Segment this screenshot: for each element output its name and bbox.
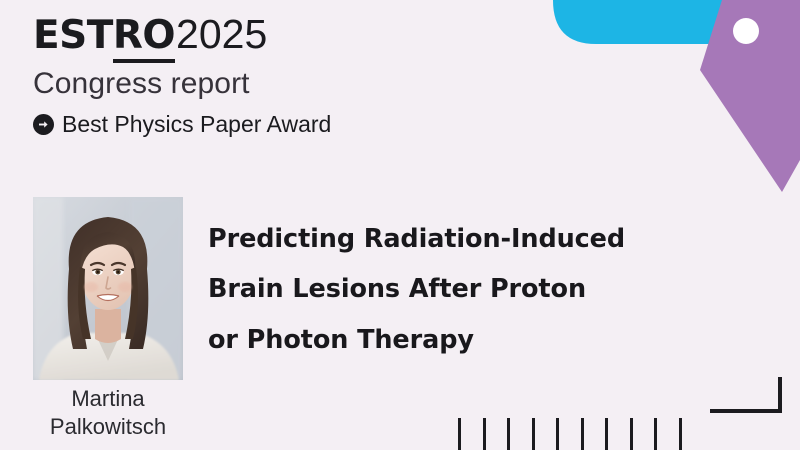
corner-bracket-vertical (778, 377, 782, 413)
award-label: Best Physics Paper Award (62, 113, 331, 136)
estro-wordmark-underlined: RO (113, 13, 175, 63)
congress-report-subtitle: Congress report (33, 69, 513, 99)
tick-mark (630, 418, 633, 450)
page-title-line-2: Brain Lesions After Proton (208, 264, 728, 314)
tick-mark (581, 418, 584, 450)
person-name-line-2: Palkowitsch (0, 413, 216, 441)
page-title-line-1: Predicting Radiation-Induced (208, 214, 728, 264)
portrait-illustration (33, 197, 183, 380)
corner-bracket-horizontal (710, 409, 782, 413)
purple-arrow-shape (700, 0, 800, 192)
page-title: Predicting Radiation-Induced Brain Lesio… (208, 214, 728, 365)
tick-mark (605, 418, 608, 450)
corner-bracket-decoration (710, 377, 782, 413)
estro-wordmark-prefix: EST (33, 13, 113, 58)
award-row: Best Physics Paper Award (33, 113, 513, 136)
tick-mark (556, 418, 559, 450)
estro-logo: ESTRO 2025 (33, 14, 513, 55)
estro-logo-year: 2025 (176, 14, 267, 55)
page-title-line-3: or Photon Therapy (208, 315, 728, 365)
congress-report-card: ESTRO 2025 Congress report Best Physics … (0, 0, 800, 450)
tick-mark (483, 418, 486, 450)
person-name-line-1: Martina (0, 385, 216, 413)
estro-wordmark: ESTRO (33, 16, 175, 55)
avatar (33, 197, 183, 380)
tick-mark (654, 418, 657, 450)
cyan-blob-shape (553, 0, 800, 44)
portrait-container (33, 197, 183, 380)
person-name: Martina Palkowitsch (0, 385, 216, 440)
arrow-right-circle-icon (33, 114, 54, 135)
tick-mark (679, 418, 682, 450)
tick-marks-decoration (458, 418, 682, 450)
tick-mark (532, 418, 535, 450)
white-dot-shape (733, 18, 759, 44)
tick-mark (458, 418, 461, 450)
header: ESTRO 2025 Congress report Best Physics … (33, 14, 513, 136)
tick-mark (507, 418, 510, 450)
